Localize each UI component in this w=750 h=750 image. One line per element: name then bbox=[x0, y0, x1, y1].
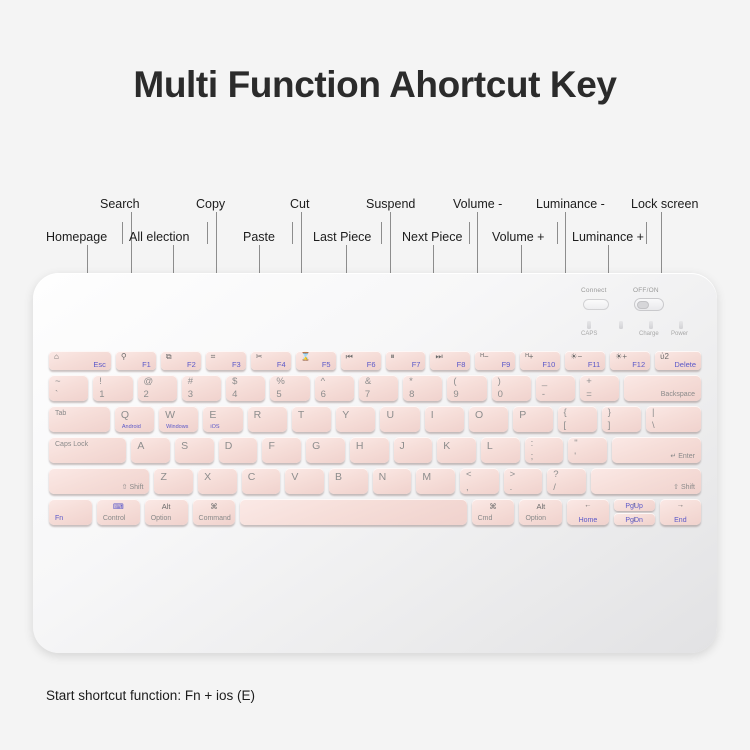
command-icon: ⌘ bbox=[193, 502, 236, 511]
footer-note: Start shortcut function: Fn + ios (E) bbox=[46, 688, 255, 703]
key-label: / bbox=[553, 483, 556, 493]
key-shift-label: ~ bbox=[55, 377, 61, 387]
key-n[interactable]: N bbox=[373, 468, 412, 494]
key-label: 9 bbox=[453, 390, 458, 400]
key-r[interactable]: R bbox=[248, 406, 287, 432]
led-power-label: Power bbox=[671, 331, 688, 337]
key-label: L bbox=[487, 440, 493, 452]
key-k[interactable]: K bbox=[437, 437, 476, 463]
key-esc[interactable]: ⌂Esc bbox=[49, 351, 111, 370]
play-pause-icon: ⏸ bbox=[391, 353, 395, 361]
key-label: T bbox=[298, 409, 304, 421]
key-label: F6 bbox=[367, 360, 376, 369]
key-cmd[interactable]: ⌘Cmd bbox=[472, 499, 515, 525]
key-label: . bbox=[510, 483, 513, 493]
key-label: ' bbox=[574, 452, 576, 462]
key-v[interactable]: V bbox=[285, 468, 324, 494]
callout-label-bottom-4: Next Piece bbox=[402, 230, 462, 244]
callout-label-bottom-1: All election bbox=[129, 230, 189, 244]
key-label: F bbox=[268, 440, 274, 452]
key-rows: ⌂Esc⚲F1⧉F2⌗F3✂F4⌛F5⏮F6⏸F7⏭F8ᴴ−F9ᴴ+F10☀−F… bbox=[49, 351, 701, 530]
key-f[interactable]: F bbox=[262, 437, 301, 463]
key-label: 4 bbox=[232, 390, 237, 400]
key-m[interactable]: M bbox=[416, 468, 455, 494]
key-label: Esc bbox=[93, 360, 106, 369]
key-label: Command bbox=[199, 515, 231, 522]
key-label: J bbox=[400, 440, 405, 452]
key-shift-label: | bbox=[652, 408, 654, 418]
key-;[interactable]: :; bbox=[525, 437, 564, 463]
key-label: A bbox=[137, 440, 144, 452]
key-label: V bbox=[291, 471, 298, 483]
key-i[interactable]: I bbox=[425, 406, 464, 432]
onoff-label: OFF/ON bbox=[633, 287, 659, 294]
key-label: Q bbox=[121, 409, 129, 421]
key-label: I bbox=[431, 409, 434, 421]
key-e[interactable]: EiOS bbox=[203, 406, 242, 432]
key-y[interactable]: Y bbox=[336, 406, 375, 432]
key-label: Tab bbox=[55, 410, 66, 417]
callout-separator bbox=[122, 222, 123, 244]
key-shift-label: _ bbox=[542, 377, 547, 387]
arrow-key-cluster: ←Home↑PgUp↓PgDn→End bbox=[567, 499, 701, 525]
key-label: W bbox=[165, 409, 175, 421]
key-label: 1 bbox=[99, 390, 104, 400]
key-label: S bbox=[181, 440, 188, 452]
key-shift-label: { bbox=[564, 408, 567, 418]
key-label: X bbox=[204, 471, 211, 483]
key-,[interactable]: <, bbox=[460, 468, 499, 494]
globe-icon: ⌨ bbox=[97, 502, 140, 511]
key-end[interactable]: →End bbox=[660, 499, 701, 525]
key-label: ⇧ Shift bbox=[122, 483, 144, 491]
key-label: Control bbox=[103, 515, 126, 522]
key--[interactable]: _- bbox=[536, 375, 575, 401]
key-shift-label: < bbox=[466, 470, 472, 480]
key-label: Option bbox=[525, 515, 546, 522]
callout-separator bbox=[469, 222, 470, 244]
callout-label-bottom-5: Volume + bbox=[492, 230, 544, 244]
key-9[interactable]: (9 bbox=[447, 375, 486, 401]
key-shift-label: " bbox=[574, 439, 577, 449]
power-switch-knob bbox=[637, 301, 649, 309]
key-label: B bbox=[335, 471, 342, 483]
key-label: 5 bbox=[276, 390, 281, 400]
key-u[interactable]: U bbox=[380, 406, 419, 432]
key-label: Fn bbox=[55, 515, 63, 522]
callout-separator bbox=[207, 222, 208, 244]
key-label: K bbox=[443, 440, 450, 452]
key-label: P bbox=[519, 409, 526, 421]
callout-label-top-0: Search bbox=[100, 197, 140, 211]
key-f9[interactable]: ᴴ−F9 bbox=[475, 351, 515, 370]
key-label: H bbox=[356, 440, 364, 452]
key-g[interactable]: G bbox=[306, 437, 345, 463]
key-5[interactable]: %5 bbox=[270, 375, 309, 401]
key-8[interactable]: *8 bbox=[403, 375, 442, 401]
callout-label-bottom-6: Luminance + bbox=[572, 230, 644, 244]
alt-label-icon: Alt bbox=[145, 502, 188, 511]
key-option[interactable]: AltOption bbox=[145, 499, 188, 525]
key-label: 6 bbox=[321, 390, 326, 400]
key-label: \ bbox=[652, 421, 655, 431]
key-label: C bbox=[248, 471, 256, 483]
key-label: ` bbox=[55, 390, 58, 400]
key-sublabel-windows: Windows bbox=[166, 424, 188, 430]
key-label: End bbox=[660, 517, 701, 524]
key-shift-label: $ bbox=[232, 377, 237, 387]
key-label: Option bbox=[151, 515, 172, 522]
key-z[interactable]: Z bbox=[154, 468, 193, 494]
home-key-row: Caps LockASDFGHJKL:;"'↵ Enter bbox=[49, 437, 701, 463]
key-shift-label: : bbox=[531, 439, 534, 449]
key-0[interactable]: )0 bbox=[492, 375, 531, 401]
key-label: G bbox=[312, 440, 320, 452]
callout-separator bbox=[646, 222, 647, 244]
prev-track-icon: ⏮ bbox=[346, 353, 353, 361]
key-6[interactable]: ^6 bbox=[315, 375, 354, 401]
key-label: Delete bbox=[674, 360, 696, 369]
led-caps bbox=[587, 321, 591, 329]
key-label: Backspace bbox=[661, 391, 695, 398]
key-label: U bbox=[386, 409, 394, 421]
key-label: Y bbox=[342, 409, 349, 421]
key-f12[interactable]: ☀+F12 bbox=[610, 351, 650, 370]
callout-separator bbox=[557, 222, 558, 244]
key-label: F3 bbox=[232, 360, 241, 369]
callout-label-bottom-2: Paste bbox=[243, 230, 275, 244]
key-\[interactable]: |\ bbox=[646, 406, 701, 432]
key-label: F7 bbox=[412, 360, 421, 369]
suspend-icon: ⌛ bbox=[301, 353, 311, 361]
key-f7[interactable]: ⏸F7 bbox=[386, 351, 426, 370]
key-label: N bbox=[379, 471, 387, 483]
key-f6[interactable]: ⏮F6 bbox=[341, 351, 381, 370]
key-home[interactable]: ←Home bbox=[567, 499, 608, 525]
home-arrow-icon: ← bbox=[567, 500, 608, 509]
key-label: ⇧ Shift bbox=[673, 483, 695, 491]
next-track-icon: ⏭ bbox=[435, 353, 442, 361]
led-charge bbox=[649, 321, 653, 329]
key-label: 8 bbox=[409, 390, 414, 400]
key-shift-label: ^ bbox=[321, 377, 325, 387]
key-label: , bbox=[466, 483, 469, 493]
lock-screen-icon: ὑ2 bbox=[660, 353, 669, 361]
key-q[interactable]: QAndroid bbox=[115, 406, 154, 432]
key-shift-label: @ bbox=[144, 377, 154, 387]
key-shift[interactable]: ⇧ Shift bbox=[591, 468, 701, 494]
key-control[interactable]: ⌨Control bbox=[97, 499, 140, 525]
copy-icon: ⧉ bbox=[166, 353, 172, 361]
key-d[interactable]: D bbox=[219, 437, 258, 463]
key-label: ↵ Enter bbox=[670, 452, 695, 460]
key-label: F11 bbox=[588, 360, 600, 369]
key-7[interactable]: &7 bbox=[359, 375, 398, 401]
key-label: E bbox=[209, 409, 216, 421]
connect-label: Connect bbox=[581, 287, 607, 294]
key-pgup[interactable]: ↑PgUp bbox=[614, 499, 655, 511]
key-2[interactable]: @2 bbox=[138, 375, 177, 401]
callout-label-top-4: Volume - bbox=[453, 197, 502, 211]
key-shift-label: ! bbox=[99, 377, 102, 387]
key-label: O bbox=[475, 409, 483, 421]
key-shift-label: ? bbox=[553, 470, 558, 480]
key-label: - bbox=[542, 390, 545, 400]
end-arrow-icon: → bbox=[660, 500, 701, 509]
key-label: 0 bbox=[498, 390, 503, 400]
key-spacebar[interactable] bbox=[240, 499, 466, 525]
indicator-panel: Connect OFF/ON CAPS Charge Power bbox=[581, 285, 701, 341]
key-label: 3 bbox=[188, 390, 193, 400]
key-label: [ bbox=[564, 421, 567, 431]
key-f8[interactable]: ⏭F8 bbox=[430, 351, 470, 370]
key-f10[interactable]: ᴴ+F10 bbox=[520, 351, 560, 370]
callout-label-top-5: Luminance - bbox=[536, 197, 605, 211]
key-option[interactable]: AltOption bbox=[519, 499, 562, 525]
key-label: Caps Lock bbox=[55, 441, 88, 448]
key-label: F10 bbox=[542, 360, 555, 369]
command-icon: ⌘ bbox=[472, 502, 515, 511]
callout-label-top-6: Lock screen bbox=[631, 197, 698, 211]
key-label: F2 bbox=[187, 360, 196, 369]
cut-icon: ✂ bbox=[256, 353, 263, 361]
key-shift-label: & bbox=[365, 377, 371, 387]
key-label: Cmd bbox=[478, 515, 493, 522]
callout-separator bbox=[381, 222, 382, 244]
key-4[interactable]: $4 bbox=[226, 375, 265, 401]
shift-key-row: ⇧ ShiftZXCVBNM<,>.?/⇧ Shift bbox=[49, 468, 701, 494]
key-3[interactable]: #3 bbox=[182, 375, 221, 401]
key-label: M bbox=[422, 471, 431, 483]
key-f1[interactable]: ⚲F1 bbox=[116, 351, 156, 370]
key-.[interactable]: >. bbox=[504, 468, 543, 494]
key-`[interactable]: ~` bbox=[49, 375, 88, 401]
key-label: ] bbox=[608, 421, 611, 431]
key-1[interactable]: !1 bbox=[93, 375, 132, 401]
key-x[interactable]: X bbox=[198, 468, 237, 494]
led-charge-label: Charge bbox=[639, 331, 659, 337]
key-backspace[interactable]: Backspace bbox=[624, 375, 701, 401]
key-shift-label: # bbox=[188, 377, 193, 387]
key-f11[interactable]: ☀−F11 bbox=[565, 351, 605, 370]
page-title: Multi Function Ahortcut Key bbox=[0, 64, 750, 106]
key-f3[interactable]: ⌗F3 bbox=[206, 351, 246, 370]
key-shift[interactable]: ⇧ Shift bbox=[49, 468, 149, 494]
key-fn[interactable]: Fn bbox=[49, 499, 92, 525]
key-sublabel-ios: iOS bbox=[210, 424, 219, 430]
key-/[interactable]: ?/ bbox=[547, 468, 586, 494]
key-label: 7 bbox=[365, 390, 370, 400]
qwerty-key-row: TabQAndroidWWindowsEiOSRTYUIOP{[}]|\ bbox=[49, 406, 701, 432]
key-pgdn[interactable]: ↓PgDn bbox=[614, 513, 655, 525]
key-f4[interactable]: ✂F4 bbox=[251, 351, 291, 370]
volume-up-icon: ᴴ+ bbox=[525, 353, 533, 361]
callout-label-bottom-0: Homepage bbox=[46, 230, 107, 244]
key-label: = bbox=[586, 390, 592, 400]
key-p[interactable]: P bbox=[513, 406, 552, 432]
key-delete[interactable]: ὑ2Delete bbox=[655, 351, 701, 370]
key-][interactable]: }] bbox=[602, 406, 641, 432]
key-o[interactable]: O bbox=[469, 406, 508, 432]
key-label: ; bbox=[531, 452, 534, 462]
key-label: F4 bbox=[277, 360, 286, 369]
key-shift-label: } bbox=[608, 408, 611, 418]
number-key-row: ~`!1@2#3$4%5^6&7*8(9)0_-+=Backspace bbox=[49, 375, 701, 401]
key-[[interactable]: {[ bbox=[558, 406, 597, 432]
key-c[interactable]: C bbox=[242, 468, 281, 494]
key-label: F8 bbox=[457, 360, 466, 369]
key-command[interactable]: ⌘Command bbox=[193, 499, 236, 525]
key-j[interactable]: J bbox=[394, 437, 433, 463]
key-shift-label: * bbox=[409, 377, 413, 387]
key-tab[interactable]: Tab bbox=[49, 406, 110, 432]
key-shift-label: % bbox=[276, 377, 284, 387]
key-label: Z bbox=[160, 471, 166, 483]
callout-label-top-2: Cut bbox=[290, 197, 309, 211]
power-switch[interactable] bbox=[634, 298, 664, 311]
key-'[interactable]: "' bbox=[568, 437, 607, 463]
keyboard-image: Connect OFF/ON CAPS Charge Power ⌂Esc⚲F1… bbox=[33, 273, 717, 653]
connect-button[interactable] bbox=[583, 299, 609, 310]
led-power bbox=[679, 321, 683, 329]
key-label: D bbox=[225, 440, 233, 452]
key-label: F9 bbox=[502, 360, 511, 369]
key-=[interactable]: += bbox=[580, 375, 619, 401]
home-icon: ⌂ bbox=[54, 353, 59, 361]
key-h[interactable]: H bbox=[350, 437, 389, 463]
brightness-up-icon: ☀+ bbox=[615, 353, 627, 361]
callout-separator bbox=[292, 222, 293, 244]
callout-label-bottom-3: Last Piece bbox=[313, 230, 371, 244]
key-l[interactable]: L bbox=[481, 437, 520, 463]
function-key-row: ⌂Esc⚲F1⧉F2⌗F3✂F4⌛F5⏮F6⏸F7⏭F8ᴴ−F9ᴴ+F10☀−F… bbox=[49, 351, 701, 370]
brightness-down-icon: ☀− bbox=[570, 353, 582, 361]
key-label: 2 bbox=[144, 390, 149, 400]
key-shift-label: ) bbox=[498, 377, 501, 387]
key-label: Home bbox=[567, 517, 608, 524]
search-icon: ⚲ bbox=[121, 353, 127, 361]
key-t[interactable]: T bbox=[292, 406, 331, 432]
callout-label-top-3: Suspend bbox=[366, 197, 415, 211]
key-label: F5 bbox=[322, 360, 331, 369]
pgup-pgdn-stack: ↑PgUp↓PgDn bbox=[614, 499, 655, 525]
key-sublabel-android: Android bbox=[122, 424, 141, 430]
key-shift-label: + bbox=[586, 377, 592, 387]
key-label: PgUp bbox=[614, 503, 655, 510]
key-label: F1 bbox=[142, 360, 151, 369]
led-bluetooth bbox=[619, 321, 623, 329]
key-label: F12 bbox=[632, 360, 645, 369]
paste-icon: ⌗ bbox=[211, 353, 216, 361]
volume-down-icon: ᴴ− bbox=[480, 353, 488, 361]
key-a[interactable]: A bbox=[131, 437, 170, 463]
key-w[interactable]: WWindows bbox=[159, 406, 198, 432]
led-caps-label: CAPS bbox=[581, 331, 597, 337]
callout-label-top-1: Copy bbox=[196, 197, 225, 211]
alt-label-icon: Alt bbox=[519, 502, 562, 511]
key-f2[interactable]: ⧉F2 bbox=[161, 351, 201, 370]
key-s[interactable]: S bbox=[175, 437, 214, 463]
key-b[interactable]: B bbox=[329, 468, 368, 494]
modifier-key-row: Fn⌨ControlAltOption⌘Command⌘CmdAltOption… bbox=[49, 499, 701, 525]
key-label: PgDn bbox=[614, 517, 655, 524]
key-caps-lock[interactable]: Caps Lock bbox=[49, 437, 126, 463]
key-shift-label: ( bbox=[453, 377, 456, 387]
key-f5[interactable]: ⌛F5 bbox=[296, 351, 336, 370]
key-label: R bbox=[254, 409, 262, 421]
key-enter[interactable]: ↵ Enter bbox=[612, 437, 701, 463]
key-shift-label: > bbox=[510, 470, 516, 480]
